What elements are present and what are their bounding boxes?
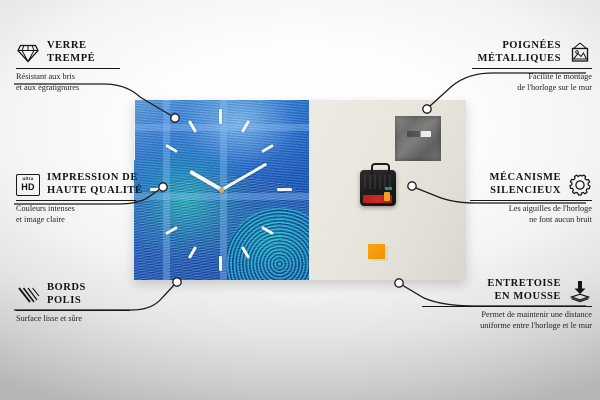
feature-divider	[422, 306, 592, 307]
mechanism-hanging-loop	[371, 163, 390, 174]
clock-tick-6	[219, 256, 222, 271]
feature-title: ENTRETOISE EN MOUSSE	[487, 278, 561, 303]
feature-title-line1: VERRE	[47, 40, 95, 53]
feature-subtitle-line1: Permet de maintenir une distance	[422, 310, 592, 320]
clock-tick-8	[165, 226, 178, 235]
clock-center-cap	[219, 188, 224, 193]
clock-tick-2	[261, 144, 274, 153]
hanger-slot	[407, 131, 431, 137]
clock-hour-hand	[188, 170, 222, 192]
feature-subtitle-line2: uniforme entre l'horloge et le mur	[422, 321, 592, 331]
quartz-mechanism	[360, 170, 396, 206]
feature-divider	[472, 68, 592, 69]
diagonal-lines-icon	[16, 283, 40, 307]
feature-header: POIGNÉES MÉTALLIQUES	[472, 40, 592, 65]
mechanism-marking	[385, 187, 392, 190]
feature-title-line2: HAUTE QUALITÉ	[47, 185, 143, 198]
ultra-hd-badge-icon: ultra HD	[16, 173, 40, 197]
connector-node-entretoise	[395, 279, 403, 287]
feature-header: ENTRETOISE EN MOUSSE	[422, 278, 592, 303]
feature-title-line2: TREMPÉ	[47, 53, 95, 66]
feature-subtitle-line1: Les aiguilles de l'horloge	[470, 204, 592, 214]
feature-header: BORDS POLIS	[16, 282, 130, 307]
feature-divider	[16, 68, 120, 69]
metal-hanger-plate	[395, 116, 441, 161]
feature-header: ultra HD IMPRESSION DE HAUTE QUALITÉ	[16, 172, 143, 197]
feature-title-line1: POIGNÉES	[478, 40, 561, 53]
feature-title-line1: MÉCANISME	[490, 172, 561, 185]
feature-title-line1: ENTRETOISE	[487, 278, 561, 291]
clock-tick-3	[277, 188, 292, 191]
feature-title-line2: EN MOUSSE	[487, 291, 561, 304]
clock-dial	[134, 100, 309, 280]
clock-back-panel	[309, 100, 466, 280]
red-battery	[363, 195, 392, 203]
feature-title: BORDS POLIS	[47, 282, 86, 307]
feature-verre-trempe: VERRE TREMPÉ Résistant aux bris et aux é…	[16, 40, 120, 93]
product-photo	[134, 100, 466, 280]
feature-subtitle-line1: Facilite le montage	[472, 72, 592, 82]
feature-title: IMPRESSION DE HAUTE QUALITÉ	[47, 172, 143, 197]
feature-title-line2: MÉTALLIQUES	[478, 53, 561, 66]
product-feature-infographic: VERRE TREMPÉ Résistant aux bris et aux é…	[0, 0, 600, 400]
diamond-icon	[16, 41, 40, 65]
feature-mecanisme-silencieux: MÉCANISME SILENCIEUX Les aiguilles de l'…	[470, 172, 592, 225]
feature-header: VERRE TREMPÉ	[16, 40, 120, 65]
feature-title: POIGNÉES MÉTALLIQUES	[478, 40, 561, 65]
down-arrow-stack-icon	[568, 279, 592, 303]
orange-foam-spacer	[368, 244, 385, 259]
clock-tick-9	[150, 188, 165, 191]
feature-divider	[470, 200, 592, 201]
feature-entretoise-en-mousse: ENTRETOISE EN MOUSSE Permet de maintenir…	[422, 278, 592, 331]
feature-subtitle-line2: et image claire	[16, 215, 143, 225]
clock-tick-4	[261, 226, 274, 235]
feature-title: MÉCANISME SILENCIEUX	[490, 172, 561, 197]
clock-tick-10	[165, 144, 178, 153]
gear-icon	[568, 173, 592, 197]
feature-title-line2: POLIS	[47, 295, 86, 308]
feature-title-line1: IMPRESSION DE	[47, 172, 143, 185]
hd-badge: ultra HD	[16, 174, 40, 196]
feature-subtitle-line1: Surface lisse et sûre	[16, 314, 130, 324]
clock-tick-7	[188, 246, 197, 259]
feature-divider	[16, 200, 136, 201]
clock-tick-11	[188, 120, 197, 133]
clock-tick-12	[219, 109, 222, 124]
feature-bords-polis: BORDS POLIS Surface lisse et sûre	[16, 282, 130, 325]
feature-poignees-metalliques: POIGNÉES MÉTALLIQUES Facilite le montage…	[472, 40, 592, 93]
feature-subtitle-line1: Couleurs intenses	[16, 204, 143, 214]
feature-header: MÉCANISME SILENCIEUX	[470, 172, 592, 197]
feature-title-line1: BORDS	[47, 282, 86, 295]
clock-tick-1	[241, 120, 250, 133]
hd-badge-hd-text: HD	[21, 183, 35, 192]
picture-hanger-icon	[568, 41, 592, 65]
feature-impression-haute-qualite: ultra HD IMPRESSION DE HAUTE QUALITÉ Cou…	[16, 172, 143, 225]
battery-plus-terminal	[384, 192, 390, 201]
feature-divider	[16, 310, 130, 311]
feature-subtitle-line2: et aux égratignures	[16, 83, 120, 93]
feature-subtitle-line1: Résistant aux bris	[16, 72, 120, 82]
feature-title: VERRE TREMPÉ	[47, 40, 95, 65]
clock-minute-hand	[221, 163, 268, 192]
clock-second-hand	[134, 100, 135, 160]
feature-title-line2: SILENCIEUX	[490, 185, 561, 198]
feature-subtitle-line2: de l'horloge sur le mur	[472, 83, 592, 93]
clock-front-face	[134, 100, 310, 280]
feature-subtitle-line2: ne font aucun bruit	[470, 215, 592, 225]
clock-tick-5	[241, 246, 250, 259]
